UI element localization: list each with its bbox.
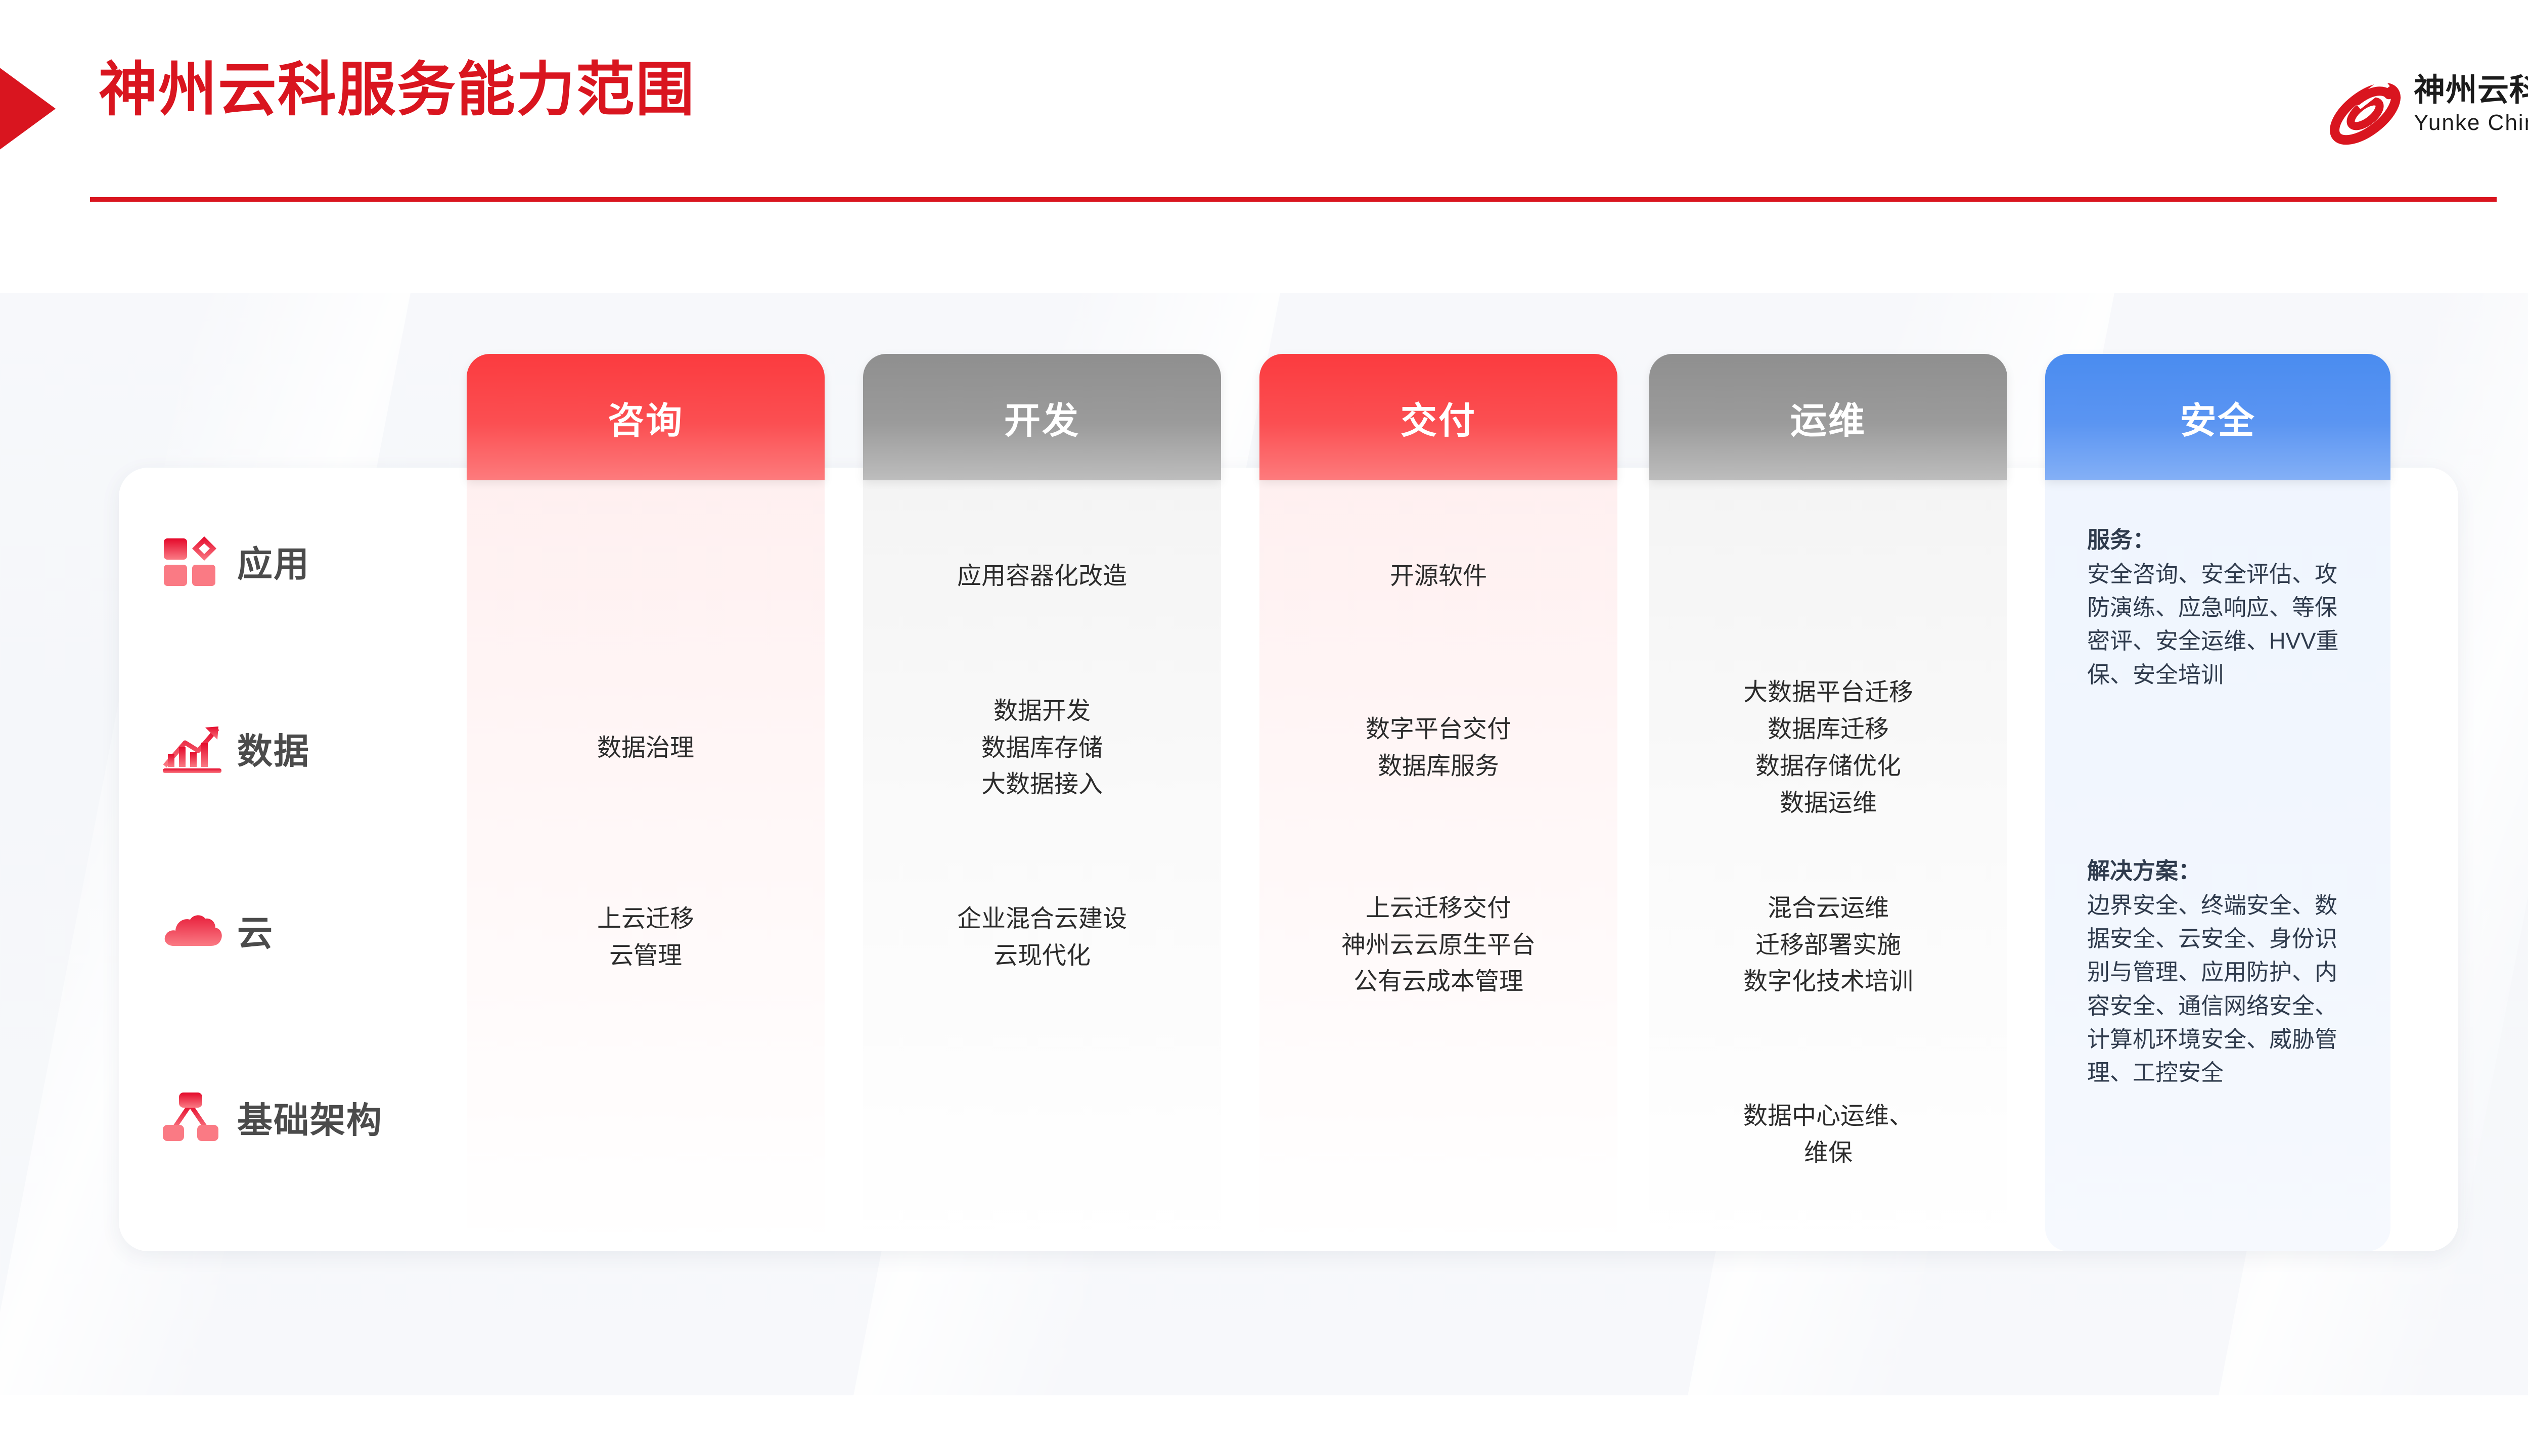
cell-line: 数据中心运维、 xyxy=(1743,1098,1913,1135)
cell-line: 数据库存储 xyxy=(981,730,1103,767)
cell-consulting-cloud[interactable]: 上云迁移 云管理 xyxy=(467,880,825,996)
cell-operations-infrastructure[interactable]: 数据中心运维、 维保 xyxy=(1649,1084,2007,1186)
column-header-development[interactable]: 开发 xyxy=(863,354,1221,480)
security-services-block[interactable]: 服务： 安全咨询、安全评估、攻防演练、应急响应、等保密评、安全运维、HVV重保、… xyxy=(2087,523,2350,692)
cell-line: 数据运维 xyxy=(1780,785,1877,822)
cell-line: 数据存储优化 xyxy=(1755,748,1901,785)
cell-line: 数字平台交付 xyxy=(1366,711,1511,748)
cell-line: 维保 xyxy=(1804,1135,1853,1172)
security-solutions-block[interactable]: 解决方案： 边界安全、终端安全、数据安全、云安全、身份识别与管理、应用防护、内容… xyxy=(2087,854,2350,1089)
cell-line: 上云迁移 xyxy=(597,901,694,938)
row-label-application[interactable]: 应用 xyxy=(162,521,475,602)
cell-line: 开源软件 xyxy=(1390,558,1487,595)
capability-matrix: 咨询 开发 交付 运维 安全 应用 xyxy=(0,0,2528,1456)
cell-line: 云管理 xyxy=(609,938,682,975)
cell-operations-data[interactable]: 大数据平台迁移 数据库迁移 数据存储优化 数据运维 xyxy=(1649,657,2007,839)
cell-development-data[interactable]: 数据开发 数据库存储 大数据接入 xyxy=(863,675,1221,822)
row-label-text: 数据 xyxy=(237,723,310,774)
cell-operations-cloud[interactable]: 混合云运维 迁移部署实施 数字化技术培训 xyxy=(1649,872,2007,1019)
cell-line: 数据开发 xyxy=(994,693,1091,730)
cell-delivery-cloud[interactable]: 上云迁移交付 神州云云原生平台 公有云成本管理 xyxy=(1259,872,1617,1019)
cell-delivery-infrastructure[interactable] xyxy=(1259,1077,1617,1188)
cell-line: 迁移部署实施 xyxy=(1755,927,1901,964)
cell-line: 大数据平台迁移 xyxy=(1743,674,1913,711)
cell-line: 上云迁移交付 xyxy=(1366,890,1511,927)
cell-delivery-data[interactable]: 数字平台交付 数据库服务 xyxy=(1259,680,1617,816)
cell-line: 数据治理 xyxy=(597,730,694,767)
cell-line: 公有云成本管理 xyxy=(1353,964,1523,1000)
cell-delivery-application[interactable]: 开源软件 xyxy=(1259,521,1617,632)
network-nodes-icon xyxy=(162,1089,225,1145)
row-label-cloud[interactable]: 云 xyxy=(162,890,475,971)
cell-line: 数据库迁移 xyxy=(1768,711,1889,748)
cell-consulting-infrastructure[interactable] xyxy=(467,1077,825,1188)
cell-operations-application[interactable] xyxy=(1649,521,2007,632)
column-header-security[interactable]: 安全 xyxy=(2045,354,2390,480)
security-solutions-title: 解决方案： xyxy=(2087,854,2350,888)
cell-line: 混合云运维 xyxy=(1768,890,1889,927)
cell-line: 云现代化 xyxy=(994,938,1091,975)
cell-consulting-data[interactable]: 数据治理 xyxy=(467,685,825,811)
bar-chart-arrow-icon xyxy=(162,720,225,776)
row-label-text: 云 xyxy=(237,905,274,956)
cell-consulting-application[interactable] xyxy=(467,521,825,632)
cell-line: 大数据接入 xyxy=(981,766,1103,803)
cell-line: 数据库服务 xyxy=(1378,748,1499,785)
cell-development-infrastructure[interactable] xyxy=(863,1077,1221,1188)
column-header-delivery[interactable]: 交付 xyxy=(1259,354,1617,480)
security-services-title: 服务： xyxy=(2087,523,2350,557)
security-solutions-body: 边界安全、终端安全、数据安全、云安全、身份识别与管理、应用防护、内容安全、通信网… xyxy=(2087,892,2337,1085)
row-label-text: 应用 xyxy=(237,536,310,587)
column-header-consulting[interactable]: 咨询 xyxy=(467,354,825,480)
app-blocks-icon xyxy=(162,533,225,589)
row-label-data[interactable]: 数据 xyxy=(162,708,475,789)
cell-line: 应用容器化改造 xyxy=(957,558,1127,595)
cell-development-application[interactable]: 应用容器化改造 xyxy=(863,521,1221,632)
cloud-icon xyxy=(162,902,225,958)
cell-line: 企业混合云建设 xyxy=(957,901,1127,938)
cell-line: 神州云云原生平台 xyxy=(1341,927,1536,964)
security-services-body: 安全咨询、安全评估、攻防演练、应急响应、等保密评、安全运维、HVV重保、安全培训 xyxy=(2087,561,2339,687)
column-header-operations[interactable]: 运维 xyxy=(1649,354,2007,480)
row-label-text: 基础架构 xyxy=(237,1092,383,1143)
row-label-infrastructure[interactable]: 基础架构 xyxy=(162,1077,475,1158)
cell-line: 数字化技术培训 xyxy=(1743,964,1913,1000)
cell-development-cloud[interactable]: 企业混合云建设 云现代化 xyxy=(863,880,1221,996)
